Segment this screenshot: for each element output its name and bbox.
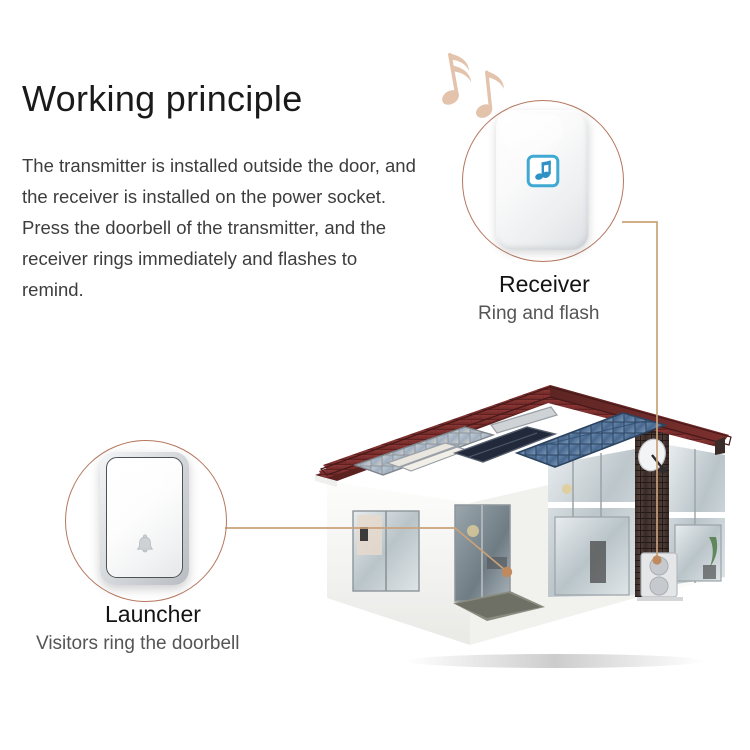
description-text: The transmitter is installed outside the… bbox=[22, 150, 422, 305]
receiver-device[interactable] bbox=[496, 110, 589, 250]
intercom-panel bbox=[360, 527, 368, 541]
launcher-device[interactable] bbox=[100, 452, 189, 585]
launcher-sublabel: Visitors ring the doorbell bbox=[36, 633, 239, 655]
ac-unit bbox=[637, 553, 683, 601]
bell-icon bbox=[132, 533, 158, 559]
house-door-left bbox=[353, 511, 419, 591]
launcher-button-face[interactable] bbox=[106, 457, 183, 578]
launcher-label: Launcher bbox=[105, 601, 201, 628]
receiver-sublabel: Ring and flash bbox=[478, 303, 599, 325]
house-illustration bbox=[305, 345, 750, 675]
infographic-canvas: Working principle The transmitter is ins… bbox=[0, 0, 750, 750]
music-note-icon bbox=[526, 154, 560, 188]
receiver-label: Receiver bbox=[499, 271, 590, 298]
page-description: The transmitter is installed outside the… bbox=[22, 150, 422, 305]
house-glass-wall-right bbox=[548, 449, 635, 597]
page-title: Working principle bbox=[22, 78, 303, 119]
launcher-glare bbox=[112, 462, 164, 502]
house-door-center bbox=[455, 505, 510, 601]
receiver-glare bbox=[502, 115, 562, 159]
